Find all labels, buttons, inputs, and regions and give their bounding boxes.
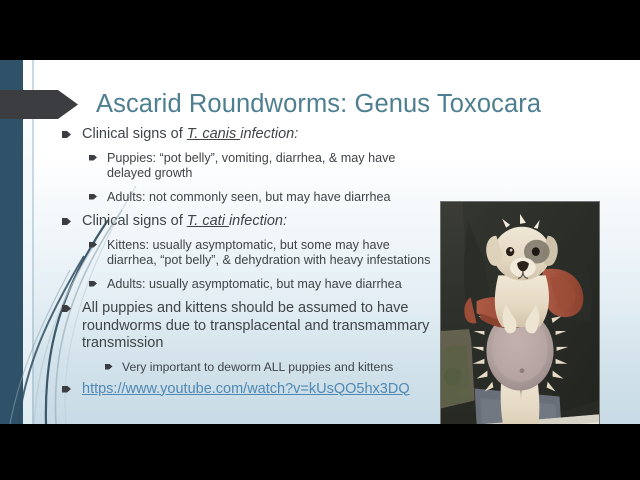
letterbox-bar-top [0,0,640,60]
bullet-text: Adults: not commonly seen, but may have … [107,190,391,204]
bullet-text: Puppies: “pot belly”, vomiting, diarrhea… [107,151,395,181]
bullet-adults-canis-signs: Adults: not commonly seen, but may have … [85,190,440,206]
bullet-text: All puppies and kittens should be assume… [82,300,429,351]
bullet-video-link[interactable]: https://www.youtube.com/watch?v=kUsQO5hx… [60,381,440,399]
bullet-deworm-importance: Very important to deworm ALL puppies and… [100,360,440,375]
bullet-text-part: infection: [229,213,287,229]
bullet-arrow-icon [89,155,97,161]
bullet-arrow-icon [89,242,97,248]
bullet-text: Kittens: usually asymptomatic, but some … [107,238,430,268]
bullet-arrow-icon [62,386,71,393]
bullet-clinical-signs-t-cati: Clinical signs of T. cati infection: [60,213,440,231]
video-player-frame: Ascarid Roundworms: Genus Toxocara Clini… [0,0,640,480]
bullet-kittens-signs: Kittens: usually asymptomatic, but some … [85,238,440,269]
youtube-link[interactable]: https://www.youtube.com/watch?v=kUsQO5hx… [82,381,410,397]
puppy-pot-belly-photo [440,201,600,424]
bullet-text: Adults: usually asymptomatic, but may ha… [107,277,402,291]
page-title: Ascarid Roundworms: Genus Toxocara [96,88,616,120]
bullet-arrow-icon [89,194,97,200]
bullet-arrow-icon [62,131,71,138]
bullet-text-species: T. canis [187,126,240,142]
bullet-text-part: Clinical signs of [82,213,187,229]
bullet-arrow-icon [62,218,71,225]
bullet-assume-roundworms: All puppies and kittens should be assume… [60,300,440,353]
slide-body-content: Clinical signs of T. canis infection: Pu… [60,126,440,401]
bullet-puppies-signs: Puppies: “pot belly”, vomiting, diarrhea… [85,151,440,182]
bullet-text-part: infection: [240,126,298,142]
bullet-adults-cati-signs: Adults: usually asymptomatic, but may ha… [85,277,440,293]
bullet-text-species: T. cati [187,213,229,229]
bullet-text-part: Clinical signs of [82,126,187,142]
bullet-arrow-icon [105,364,113,370]
bullet-clinical-signs-t-canis: Clinical signs of T. canis infection: [60,126,440,144]
letterbox-bar-bottom [0,424,640,480]
photo-illustration [441,202,599,424]
bullet-text: Very important to deworm ALL puppies and… [122,360,393,374]
presentation-slide: Ascarid Roundworms: Genus Toxocara Clini… [0,60,640,424]
bullet-arrow-icon [62,305,71,312]
bullet-arrow-icon [89,281,97,287]
